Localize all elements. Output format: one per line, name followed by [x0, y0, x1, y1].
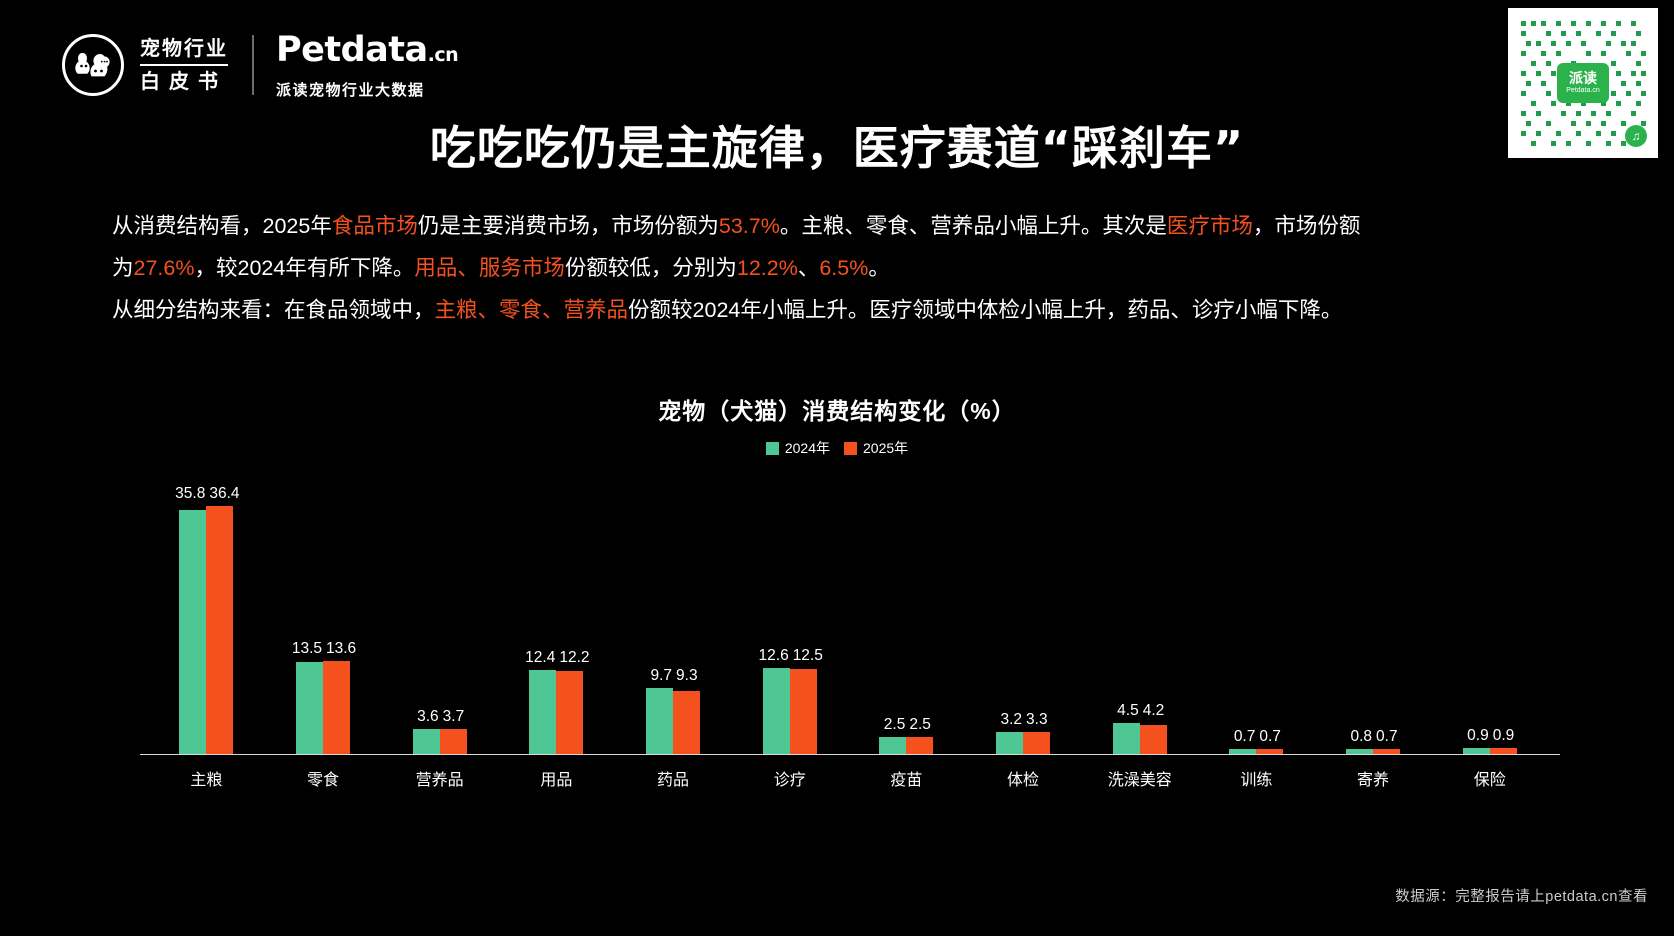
bar-value-labels: 35.836.4	[173, 485, 239, 502]
bar-2024[interactable]	[413, 729, 440, 754]
bar-pair	[529, 670, 583, 754]
x-axis-label: 药品	[615, 766, 732, 790]
bar-2025[interactable]	[790, 669, 817, 754]
paragraph-line-2: 为27.6%，较2024年有所下降。用品、服务市场份额较低，分别为12.2%、6…	[112, 247, 1572, 289]
bar-value-label: 2.5	[873, 716, 906, 733]
p3-hl-subcategories: 主粮、零食、营养品	[435, 298, 629, 322]
pet-logo-icon	[62, 34, 124, 96]
chart-plot-area: 35.836.413.513.63.63.712.412.29.79.312.6…	[148, 478, 1548, 754]
bar-value-labels: 13.513.6	[290, 640, 356, 657]
bar-value-label: 0.8	[1340, 728, 1373, 745]
chart-x-axis-line	[140, 754, 1560, 755]
bar-value-label: 9.3	[673, 667, 706, 684]
logo-line-1: 宠物行业	[140, 36, 228, 62]
chart-title: 宠物（犬猫）消费结构变化（%）	[0, 392, 1674, 426]
bar-value-label: 9.7	[640, 667, 673, 684]
p1-seg-c: 。主粮、零食、营养品小幅上升。其次是	[780, 214, 1167, 238]
chart-x-axis-labels: 主粮零食营养品用品药品诊疗疫苗体检洗澡美容训练寄养保险	[148, 766, 1548, 790]
logo-line-2: 白皮书	[140, 69, 228, 95]
x-axis-label: 零食	[265, 766, 382, 790]
brand-tagline: 派读宠物行业大数据	[276, 79, 458, 100]
bar-value-label: 3.2	[990, 711, 1023, 728]
bar-value-label: 0.7	[1223, 728, 1256, 745]
bar-value-label: 3.7	[440, 708, 473, 725]
bar-value-labels: 4.54.2	[1107, 702, 1173, 719]
page-title: 吃吃吃仍是主旋律，医疗赛道“踩刹车”	[0, 112, 1674, 178]
p1-hl-medical-market: 医疗市场	[1167, 214, 1253, 238]
bar-2025[interactable]	[206, 506, 233, 754]
bar-group: 0.90.9	[1431, 478, 1548, 754]
p1-seg-d: ，市场份额	[1253, 214, 1361, 238]
bar-value-labels: 3.63.7	[407, 708, 473, 725]
bar-2025[interactable]	[323, 661, 350, 754]
bar-value-label: 3.3	[1023, 711, 1056, 728]
x-axis-label: 保险	[1431, 766, 1548, 790]
summary-paragraph: 从消费结构看，2025年食品市场仍是主要消费市场，市场份额为53.7%。主粮、零…	[112, 205, 1572, 331]
bar-2025[interactable]	[1023, 732, 1050, 754]
qr-center-logo: 派读 Petdata.cn	[1557, 63, 1609, 103]
p1-seg-a: 从消费结构看，2025年	[112, 214, 332, 238]
bar-group: 0.80.7	[1315, 478, 1432, 754]
bar-value-label: 0.7	[1373, 728, 1406, 745]
p3-seg-b: 份额较2024年小幅上升。医疗领域中体检小幅上升，药品、诊疗小幅下降。	[628, 298, 1342, 322]
bar-2025[interactable]	[906, 737, 933, 754]
p2-seg-c: 份额较低，分别为	[565, 256, 737, 280]
x-axis-label: 训练	[1198, 766, 1315, 790]
paragraph-line-3: 从细分结构来看：在食品领域中，主粮、零食、营养品份额较2024年小幅上升。医疗领…	[112, 289, 1572, 331]
x-axis-label: 营养品	[381, 766, 498, 790]
bar-2024[interactable]	[879, 737, 906, 754]
source-note: 数据源：完整报告请上petdata.cn查看	[1395, 885, 1648, 906]
bar-pair	[296, 661, 350, 754]
bar-pair	[646, 688, 700, 754]
p2-hl-medical-share: 27.6%	[134, 256, 195, 280]
bar-group: 12.412.2	[498, 478, 615, 754]
p2-seg-b: ，较2024年有所下降。	[194, 256, 414, 280]
bar-pair	[179, 506, 233, 754]
bar-pair	[996, 732, 1050, 754]
header-vertical-divider	[252, 35, 254, 95]
bar-value-label: 13.6	[323, 640, 356, 657]
bar-value-labels: 2.52.5	[873, 716, 939, 733]
brand-block: Petdata.cn 派读宠物行业大数据	[276, 30, 458, 100]
bar-2024[interactable]	[1113, 723, 1140, 754]
qr-center-title: 派读	[1569, 71, 1597, 86]
bar-value-label: 13.5	[290, 640, 323, 657]
bar-2024[interactable]	[179, 510, 206, 754]
bar-value-labels: 0.90.9	[1457, 727, 1523, 744]
bar-2025[interactable]	[1140, 725, 1167, 754]
bar-2024[interactable]	[996, 732, 1023, 754]
brand-name-text: Petdata	[276, 30, 428, 70]
bar-group: 9.79.3	[615, 478, 732, 754]
bar-value-labels: 3.23.3	[990, 711, 1056, 728]
brand-name: Petdata.cn	[276, 30, 458, 75]
legend-item-2[interactable]: 2025年	[844, 438, 908, 458]
bar-value-label: 0.9	[1490, 727, 1523, 744]
bar-group: 12.612.5	[731, 478, 848, 754]
bar-value-label: 2.5	[906, 716, 939, 733]
bar-value-label: 12.4	[523, 649, 556, 666]
p2-seg-e: 。	[868, 256, 890, 280]
bar-value-label: 4.5	[1107, 702, 1140, 719]
bar-value-label: 3.6	[407, 708, 440, 725]
bar-group: 35.836.4	[148, 478, 265, 754]
p1-hl-food-market: 食品市场	[332, 214, 418, 238]
logo-chinese-text: 宠物行业 白皮书	[140, 36, 228, 95]
paragraph-line-1: 从消费结构看，2025年食品市场仍是主要消费市场，市场份额为53.7%。主粮、零…	[112, 205, 1572, 247]
bar-2024[interactable]	[529, 670, 556, 754]
x-axis-label: 体检	[965, 766, 1082, 790]
x-axis-label: 洗澡美容	[1081, 766, 1198, 790]
p1-hl-food-share: 53.7%	[719, 214, 780, 238]
logo-divider-rule	[140, 64, 228, 66]
bar-2024[interactable]	[646, 688, 673, 754]
p3-seg-a: 从细分结构来看：在食品领域中，	[112, 298, 435, 322]
bar-value-label: 35.8	[173, 485, 206, 502]
bar-pair	[763, 668, 817, 754]
slide-root: 宠物行业 白皮书 Petdata.cn 派读宠物行业大数据	[0, 0, 1674, 936]
bar-pair	[879, 737, 933, 754]
legend-label: 2025年	[863, 438, 908, 458]
x-axis-label: 诊疗	[731, 766, 848, 790]
x-axis-label: 主粮	[148, 766, 265, 790]
p2-seg-d: 、	[798, 256, 820, 280]
legend-swatch-icon	[766, 442, 779, 455]
bar-2025[interactable]	[673, 691, 700, 754]
bar-value-labels: 0.80.7	[1340, 728, 1406, 745]
bar-value-labels: 12.612.5	[757, 647, 823, 664]
qr-center-subtitle: Petdata.cn	[1566, 86, 1599, 95]
bar-value-labels: 12.412.2	[523, 649, 589, 666]
p2-hl-service-share: 6.5%	[819, 256, 868, 280]
brand-name-suffix: .cn	[428, 44, 459, 66]
bar-2024[interactable]	[296, 662, 323, 754]
bar-group: 13.513.6	[265, 478, 382, 754]
legend-swatch-icon	[844, 442, 857, 455]
bar-value-label: 12.5	[790, 647, 823, 664]
bar-group: 4.54.2	[1081, 478, 1198, 754]
p2-seg-a: 为	[112, 256, 134, 280]
bar-pair	[413, 729, 467, 754]
bar-group: 3.63.7	[381, 478, 498, 754]
bar-value-label: 0.9	[1457, 727, 1490, 744]
legend-item-1[interactable]: 2024年	[766, 438, 830, 458]
x-axis-label: 用品	[498, 766, 615, 790]
p1-seg-b: 仍是主要消费市场，市场份额为	[418, 214, 719, 238]
bar-2025[interactable]	[556, 671, 583, 754]
brand-header: 宠物行业 白皮书 Petdata.cn 派读宠物行业大数据	[62, 30, 458, 100]
legend-label: 2024年	[785, 438, 830, 458]
bar-value-label: 4.2	[1140, 702, 1173, 719]
bar-value-label: 0.7	[1256, 728, 1289, 745]
bar-value-labels: 0.70.7	[1223, 728, 1289, 745]
x-axis-label: 疫苗	[848, 766, 965, 790]
bar-2024[interactable]	[763, 668, 790, 754]
bar-pair	[1113, 723, 1167, 754]
bar-group: 3.23.3	[965, 478, 1082, 754]
x-axis-label: 寄养	[1315, 766, 1432, 790]
wechat-badge-icon: ♫	[1625, 125, 1647, 147]
bar-2025[interactable]	[440, 729, 467, 754]
bar-value-label: 12.2	[556, 649, 589, 666]
p2-hl-supplies-service: 用品、服务市场	[414, 256, 565, 280]
p2-hl-supplies-share: 12.2%	[737, 256, 798, 280]
bar-value-label: 36.4	[206, 485, 239, 502]
bar-value-label: 12.6	[757, 647, 790, 664]
bar-group: 0.70.7	[1198, 478, 1315, 754]
bar-group: 2.52.5	[848, 478, 965, 754]
chart-legend: 2024年2025年	[0, 438, 1674, 458]
bar-value-labels: 9.79.3	[640, 667, 706, 684]
